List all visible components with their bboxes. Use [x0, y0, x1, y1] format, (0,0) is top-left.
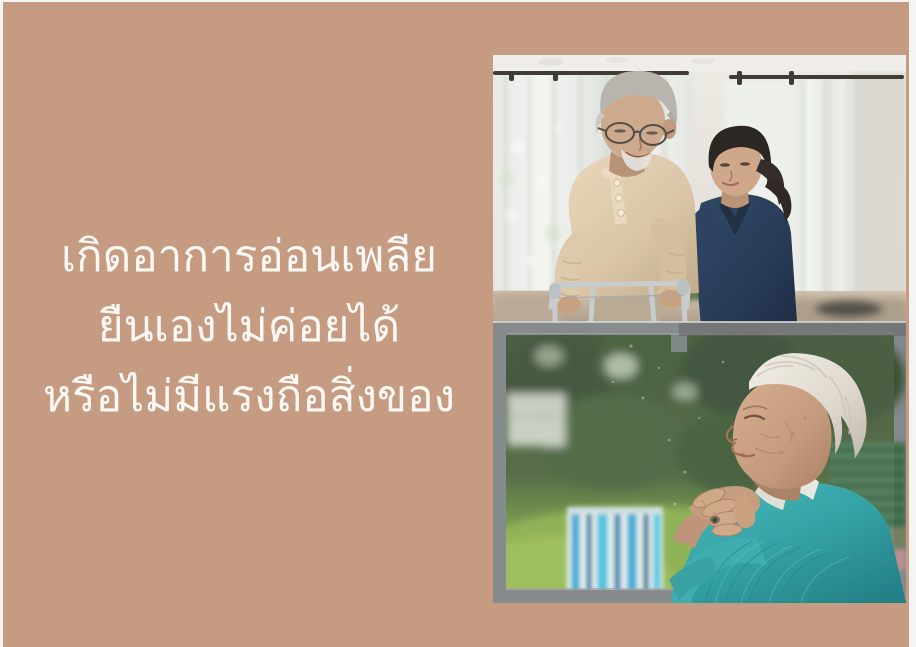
caption-line-1: เกิดอาการอ่อนเพลีย	[14, 222, 484, 292]
photo-stack	[493, 55, 906, 603]
photo-elderly-man-with-walker-and-nurse	[493, 55, 906, 322]
caption-text-block: เกิดอาการอ่อนเพลีย ยืนเองไม่ค่อยได้ หรือ…	[14, 222, 484, 432]
photo-top-artwork	[493, 55, 906, 322]
caption-line-3: หรือไม่มีแรงถือสิ่งของ	[14, 362, 484, 432]
photo-divider	[493, 321, 906, 323]
slide-canvas: เกิดอาการอ่อนเพลีย ยืนเองไม่ค่อยได้ หรือ…	[0, 0, 916, 647]
photo-elderly-woman-looking-out-window	[493, 322, 906, 603]
photo-bottom-artwork	[493, 322, 906, 603]
caption-line-2: ยืนเองไม่ค่อยได้	[14, 292, 484, 362]
